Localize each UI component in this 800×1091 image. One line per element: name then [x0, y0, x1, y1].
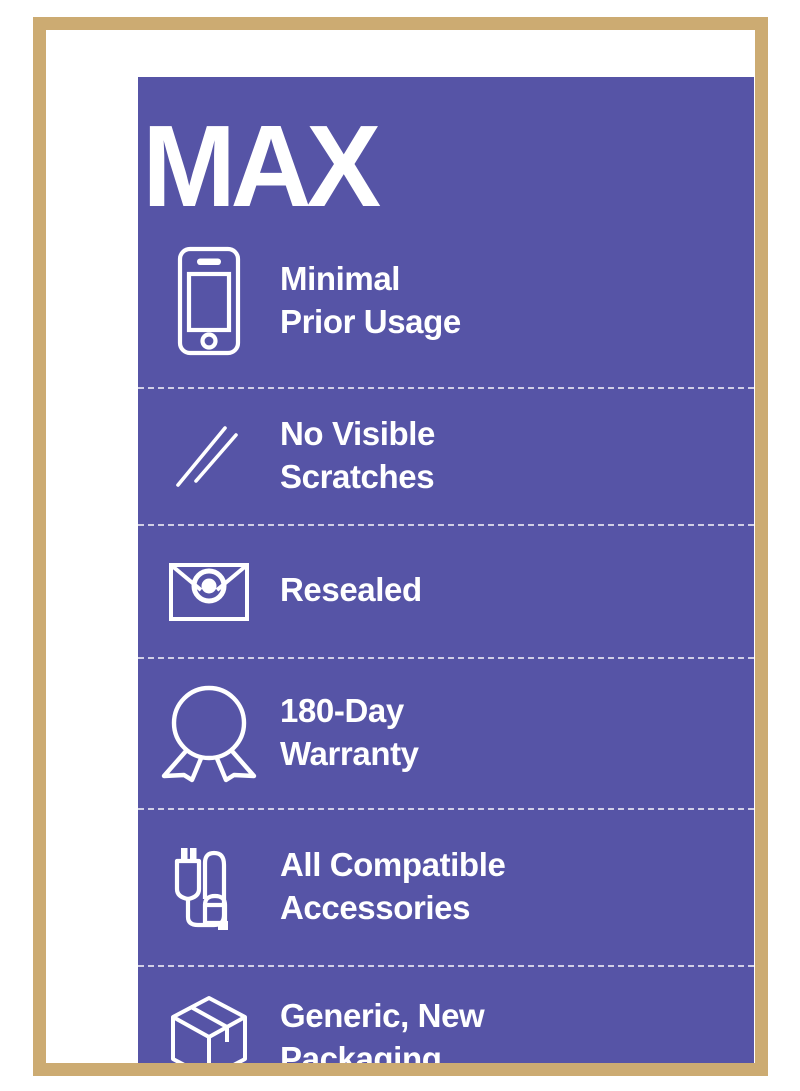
feature-label: No Visible Scratches [280, 413, 443, 499]
gold-frame-border: MAX Minimal Prior Usage [33, 17, 768, 1076]
scratches-icon [138, 419, 280, 493]
feature-label: Resealed [280, 569, 430, 612]
usb-cable-icon [138, 839, 280, 935]
award-ribbon-icon [138, 681, 280, 785]
brand-wordmark: MAX [138, 113, 754, 221]
package-box-icon [138, 994, 280, 1064]
feature-label: Minimal Prior Usage [280, 258, 469, 344]
feature-list: Minimal Prior Usage No Visible Scratches [138, 215, 754, 1063]
feature-row-minimal-prior-usage: Minimal Prior Usage [138, 215, 754, 387]
feature-label: 180-Day Warranty [280, 690, 427, 776]
feature-row-accessories: All Compatible Accessories [138, 808, 754, 965]
feature-row-no-visible-scratches: No Visible Scratches [138, 387, 754, 524]
feature-label: Generic, New Packaging [280, 995, 492, 1063]
sealed-envelope-icon [138, 559, 280, 623]
feature-row-resealed: Resealed [138, 524, 754, 657]
purple-panel: MAX Minimal Prior Usage [138, 77, 754, 1063]
feature-label: All Compatible Accessories [280, 844, 513, 930]
poster-root: MAX Minimal Prior Usage [0, 0, 800, 1091]
smartphone-icon [138, 245, 280, 357]
feature-row-warranty: 180-Day Warranty [138, 657, 754, 808]
feature-row-packaging: Generic, New Packaging [138, 965, 754, 1063]
